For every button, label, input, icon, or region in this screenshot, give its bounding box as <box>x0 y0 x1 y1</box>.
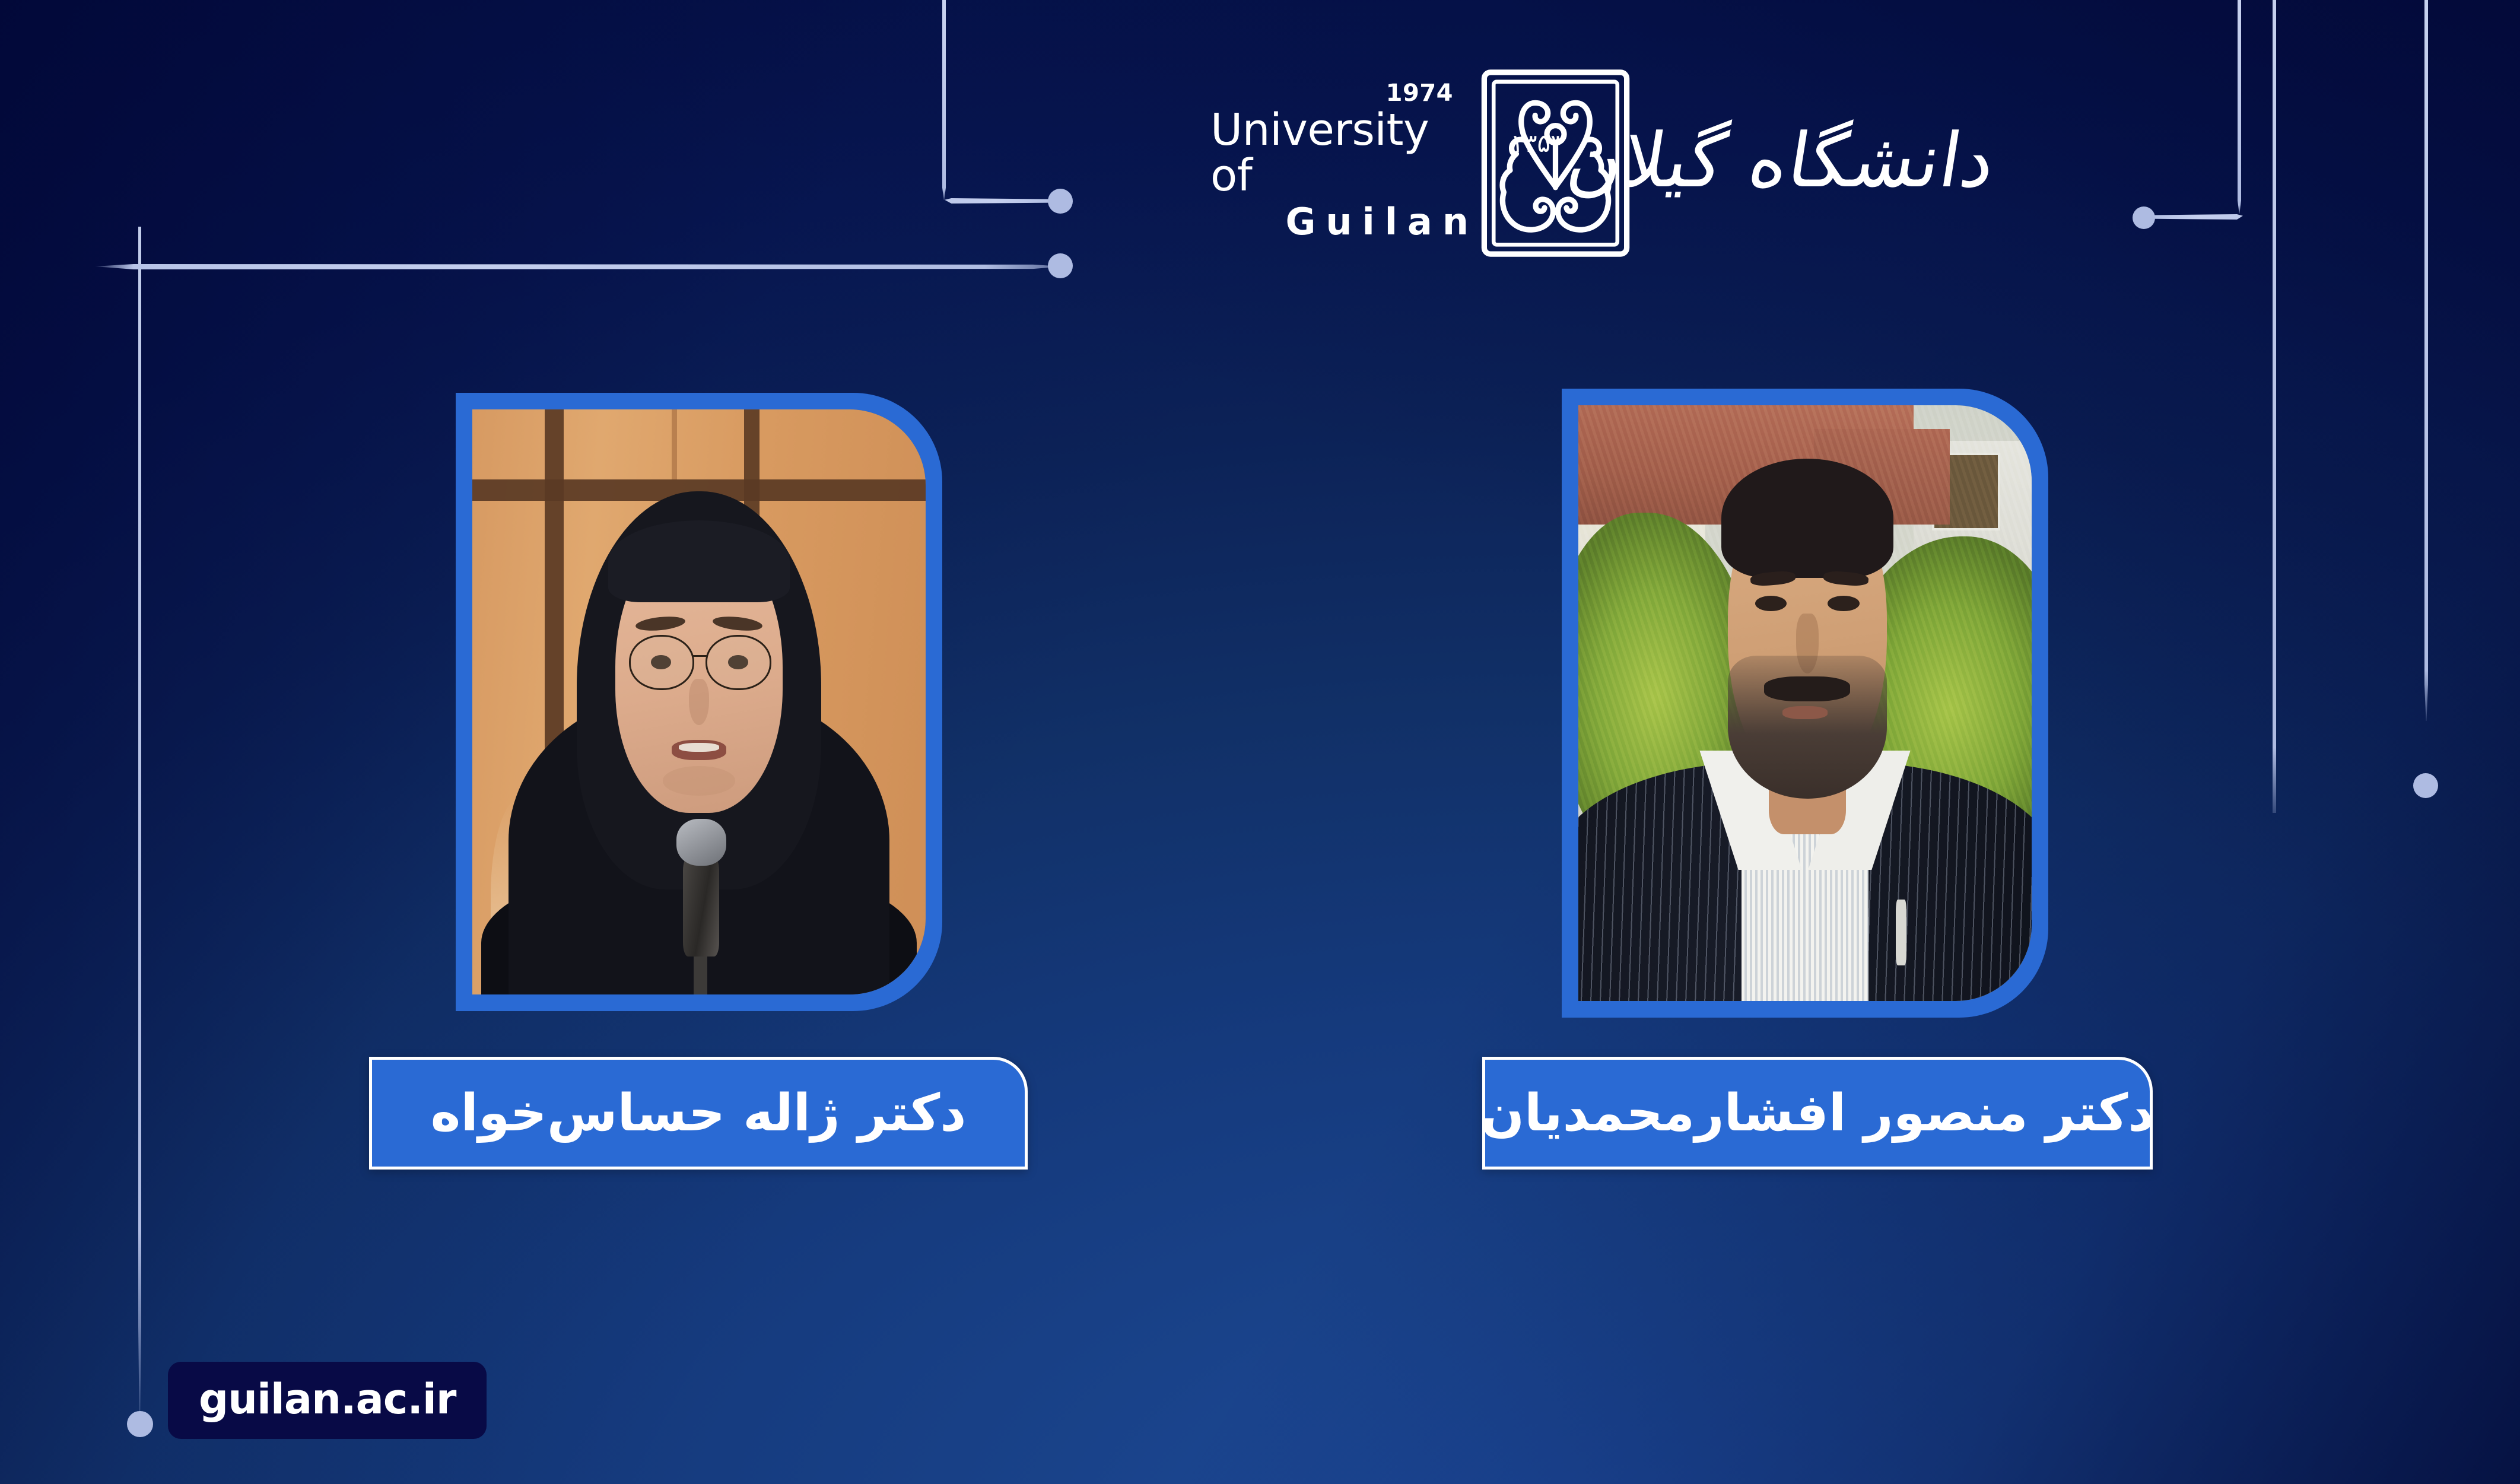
person-card-left <box>456 393 942 1011</box>
nameplate-right: دکتر منصور افشارمحمدیان <box>1482 1057 2153 1170</box>
logo-year-gregorian: 1974 <box>1386 81 1453 105</box>
photo-frame-right <box>1562 389 2048 1018</box>
logo-line-guilan: Guilan <box>1285 199 1479 245</box>
logo-persian-text: دانشگاه گیلان ۱۳۵۳ <box>1638 86 1994 240</box>
decorative-vertical-line-right-edge <box>2273 0 2276 813</box>
photo-right <box>1578 405 2032 1001</box>
decorative-dot-lower <box>1048 253 1073 278</box>
photo-frame-left <box>456 393 942 1011</box>
logo-name-persian: دانشگاه گیلان <box>1562 123 2000 198</box>
decorative-bracket-vertical-right <box>2238 0 2241 214</box>
decorative-vertical-line-left <box>138 227 141 1422</box>
person-card-right <box>1562 389 2048 1018</box>
decorative-dot-right-end <box>2413 773 2438 798</box>
decorative-dot-upper <box>1048 189 1073 214</box>
photo-left <box>472 409 926 994</box>
portrait-image-right <box>1578 405 2032 1001</box>
banner-canvas: 1974 University of Guilan <box>0 0 2520 1484</box>
website-badge[interactable]: guilan.ac.ir <box>168 1362 487 1439</box>
decorative-dot-right-bracket <box>2133 206 2155 229</box>
portrait-image-left <box>472 409 926 994</box>
logo-year-hijri-shamsi: ۱۳۵۳ <box>1510 129 1564 158</box>
university-logo: 1974 University of Guilan <box>1210 86 1994 240</box>
logo-english-text: 1974 University of Guilan <box>1210 89 1473 237</box>
decorative-horizontal-line-long <box>95 264 1062 269</box>
decorative-vertical-line-right-mid <box>2424 0 2428 721</box>
nameplate-left: دکتر ژاله حساس‌خواه <box>369 1057 1028 1170</box>
person-name-left: دکتر ژاله حساس‌خواه <box>431 1083 967 1143</box>
decorative-dot-bottom-left <box>127 1411 153 1437</box>
person-name-right: دکتر منصور افشارمحمدیان <box>1481 1083 2154 1143</box>
logo-line-university: University of <box>1210 107 1469 199</box>
decorative-bracket-vertical-top <box>942 0 946 200</box>
website-url-text: guilan.ac.ir <box>199 1375 456 1423</box>
